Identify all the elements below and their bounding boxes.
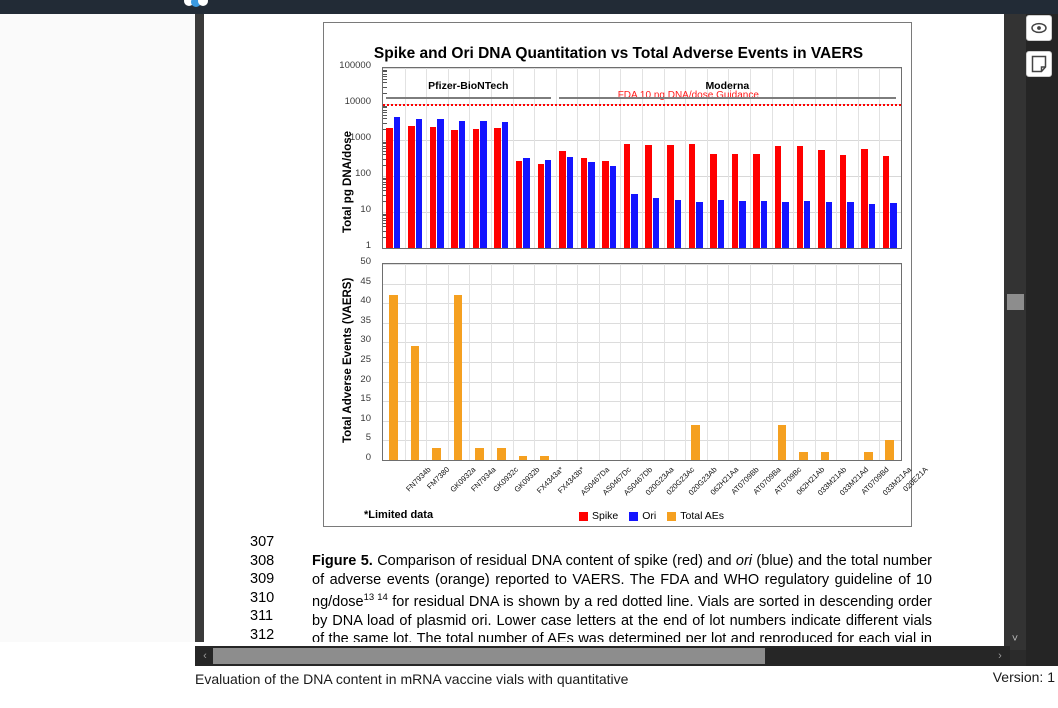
gridline: [685, 264, 686, 460]
gridline: [383, 460, 901, 461]
y-tick-label: 40: [324, 295, 376, 306]
bar-spike: [797, 146, 803, 248]
y-tick-label: 20: [324, 374, 376, 385]
y-tick-label: 50: [324, 256, 376, 267]
legend-swatch: [629, 512, 638, 521]
gridline: [426, 68, 427, 248]
vertical-scrollbar-thumb[interactable]: [1007, 294, 1024, 310]
gridline: [750, 264, 751, 460]
bar-total-aes: [821, 452, 830, 460]
gridline: [599, 68, 600, 248]
legend-label: Total AEs: [680, 510, 724, 522]
gridline: [556, 264, 557, 460]
y-tick-label: 5: [324, 432, 376, 443]
eye-glyph: [1027, 16, 1051, 40]
app-logo-icon: [183, 0, 209, 12]
y-minor-tick: [383, 93, 387, 94]
bar-ori: [653, 198, 659, 248]
bar-ori: [804, 201, 810, 248]
gridline: [772, 68, 773, 248]
note-glyph: [1027, 52, 1051, 76]
bar-spike: [689, 144, 695, 248]
group-label-pfizer-biontech: Pfizer-BioNTech: [382, 80, 555, 92]
bar-ori: [718, 200, 724, 248]
bar-ori: [696, 202, 702, 248]
y-tick-label: 1000: [324, 132, 376, 143]
bar-ori: [588, 162, 594, 248]
bar-ori: [610, 166, 616, 248]
line-number: 309: [250, 571, 292, 587]
y-tick-label: 0: [324, 452, 376, 463]
document-viewer[interactable]: Spike and Ori DNA Quantitation vs Total …: [204, 14, 1004, 642]
gridline: [491, 68, 492, 248]
line-number: 311: [250, 608, 292, 624]
bar-ori: [826, 202, 832, 248]
bar-ori: [739, 201, 745, 248]
bar-total-aes: [497, 448, 506, 460]
bar-total-aes: [885, 440, 894, 460]
bar-spike: [538, 164, 544, 248]
gridline: [577, 264, 578, 460]
bar-spike: [883, 156, 889, 248]
bar-spike: [645, 145, 651, 248]
app-topbar: [0, 0, 1058, 14]
line-number: 307: [250, 534, 292, 550]
scroll-right-icon[interactable]: ›: [992, 646, 1008, 666]
caption-figure-label: Figure 5.: [312, 553, 373, 569]
bar-spike: [753, 154, 759, 248]
gridline: [556, 68, 557, 248]
bar-spike: [581, 158, 587, 248]
y-tick-label: 35: [324, 315, 376, 326]
gridline: [728, 264, 729, 460]
legend-item: Ori: [629, 510, 656, 522]
bar-ori: [480, 121, 486, 248]
y-tick-label: 100: [324, 168, 376, 179]
y-minor-tick: [383, 70, 387, 71]
y-tick-label: 30: [324, 334, 376, 345]
y-tick-label: 10000: [324, 96, 376, 107]
bar-spike: [494, 128, 500, 248]
line-number: 310: [250, 590, 292, 606]
gridline: [815, 264, 816, 460]
bar-spike: [710, 154, 716, 248]
bar-total-aes: [799, 452, 808, 460]
gridline: [772, 264, 773, 460]
bar-spike: [473, 129, 479, 248]
chart-title: Spike and Ori DNA Quantitation vs Total …: [324, 45, 913, 63]
y-tick-label: 100000: [324, 60, 376, 71]
document-title: Evaluation of the DNA content in mRNA va…: [195, 669, 795, 689]
bar-ori: [523, 158, 529, 248]
gridline: [793, 264, 794, 460]
y-minor-tick: [383, 107, 387, 108]
gridline: [620, 264, 621, 460]
bar-ori: [761, 201, 767, 248]
y-tick-label: 10: [324, 413, 376, 424]
eye-icon[interactable]: [1026, 15, 1052, 41]
gridline: [448, 68, 449, 248]
gridline: [405, 264, 406, 460]
figure-caption-text: Figure 5. Comparison of residual DNA con…: [312, 552, 932, 642]
bar-spike: [386, 128, 392, 248]
bar-spike: [624, 144, 630, 248]
legend-label: Spike: [592, 510, 618, 522]
caption-italic-ori: ori: [736, 553, 752, 569]
document-status-bar: Evaluation of the DNA content in mRNA va…: [195, 666, 1058, 708]
gridline: [879, 264, 880, 460]
legend-item: Spike: [579, 510, 618, 522]
gridline: [491, 264, 492, 460]
gridline: [469, 264, 470, 460]
y-minor-tick: [383, 118, 387, 119]
bar-spike: [818, 150, 824, 248]
limited-data-footnote: *Limited data: [364, 509, 433, 521]
pane-divider[interactable]: [195, 14, 204, 642]
y-minor-tick: [383, 123, 387, 124]
gridline: [577, 68, 578, 248]
y-minor-tick: [383, 115, 387, 116]
bar-spike: [732, 154, 738, 248]
bar-spike: [602, 161, 608, 248]
scroll-left-icon[interactable]: ‹: [197, 646, 213, 666]
legend-item: Total AEs: [667, 510, 724, 522]
gridline: [858, 68, 859, 248]
bar-total-aes: [432, 448, 441, 460]
gridline: [513, 264, 514, 460]
left-blank-pane: [0, 14, 195, 642]
bar-ori: [847, 202, 853, 248]
gridline: [448, 264, 449, 460]
bar-total-aes: [540, 456, 549, 460]
bar-spike: [451, 130, 457, 248]
gridline: [664, 264, 665, 460]
bar-ori: [890, 203, 896, 248]
group-rule: [559, 97, 896, 99]
y-tick-label: 25: [324, 354, 376, 365]
gridline: [642, 264, 643, 460]
group-label-moderna: Moderna: [555, 80, 900, 92]
bar-spike: [667, 145, 673, 249]
bar-ori: [782, 202, 788, 248]
legend-swatch: [579, 512, 588, 521]
bar-total-aes: [691, 425, 700, 460]
bar-total-aes: [389, 295, 398, 460]
pdf-viewer-app: Spike and Ori DNA Quantitation vs Total …: [0, 0, 1058, 708]
gridline: [836, 68, 837, 248]
bar-total-aes: [411, 346, 420, 460]
bar-total-aes: [454, 295, 463, 460]
gridline: [815, 68, 816, 248]
gridline: [426, 264, 427, 460]
caption-reference-sup: 13 14: [364, 592, 388, 603]
gridline: [513, 68, 514, 248]
bar-ori: [437, 119, 443, 248]
bar-total-aes: [864, 452, 873, 460]
line-number: 308: [250, 553, 292, 569]
bar-ori: [394, 117, 400, 248]
y-tick-label: 1: [324, 240, 376, 251]
y-minor-tick: [383, 76, 387, 77]
bar-ori: [631, 194, 637, 248]
bar-spike: [775, 146, 781, 248]
bar-spike: [430, 127, 436, 248]
gridline: [836, 264, 837, 460]
y-minor-tick: [383, 71, 387, 72]
gridline: [879, 68, 880, 248]
fda-guidance-line: [383, 104, 901, 106]
right-edge-strip: [1026, 14, 1058, 708]
gridline: [707, 264, 708, 460]
bar-spike: [861, 149, 867, 248]
bar-total-aes: [519, 456, 528, 460]
gridline: [599, 264, 600, 460]
bar-ori: [675, 200, 681, 248]
bar-total-aes: [778, 425, 787, 460]
x-axis-labels: FN7934bFM7380GK0932aFN7934aGK0932cGK0932…: [382, 463, 902, 511]
gridline: [534, 264, 535, 460]
y-tick-label: 45: [324, 276, 376, 287]
y-tick-label: 15: [324, 393, 376, 404]
line-number: 312: [250, 627, 292, 642]
y-minor-tick: [383, 74, 387, 75]
figure-5-chart: Spike and Ori DNA Quantitation vs Total …: [323, 22, 912, 527]
bar-spike: [840, 155, 846, 248]
group-rule: [386, 97, 551, 99]
legend-swatch: [667, 512, 676, 521]
vertical-scrollbar-track[interactable]: [1004, 14, 1026, 628]
gridline: [405, 68, 406, 248]
pdf-page: Spike and Ori DNA Quantitation vs Total …: [204, 14, 1004, 642]
horizontal-scrollbar-thumb[interactable]: [213, 648, 765, 664]
bar-total-aes: [475, 448, 484, 460]
vaers-linear-plot: [382, 263, 902, 461]
bar-spike: [559, 151, 565, 248]
bar-ori: [869, 204, 875, 248]
gridline: [793, 68, 794, 248]
bar-ori: [545, 160, 551, 248]
bar-spike: [408, 126, 414, 248]
bar-spike: [516, 161, 522, 248]
y-minor-tick: [383, 110, 387, 111]
note-icon[interactable]: [1026, 51, 1052, 77]
gridline: [858, 264, 859, 460]
gridline: [534, 68, 535, 248]
chart-legend: SpikeOriTotal AEs: [579, 510, 724, 522]
document-version: Version: 1: [993, 669, 1055, 685]
bar-ori: [502, 122, 508, 248]
gridline: [469, 68, 470, 248]
y-minor-tick: [383, 112, 387, 113]
bar-ori: [567, 157, 573, 248]
bar-ori: [459, 121, 465, 248]
y-tick-label: 10: [324, 204, 376, 215]
y-axis-title-dna: Total pg DNA/dose: [342, 131, 354, 233]
legend-label: Ori: [642, 510, 656, 522]
bar-ori: [416, 119, 422, 248]
